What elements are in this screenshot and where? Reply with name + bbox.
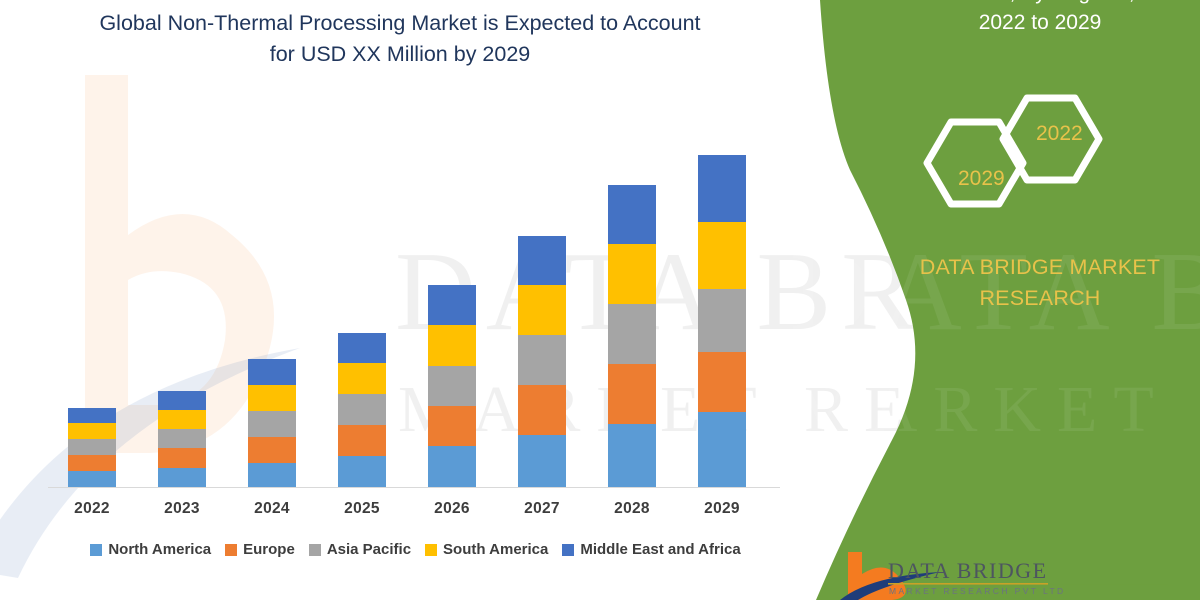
panel-title-line2: 2022 to 2029 [885,8,1195,38]
hexagon-label-2029: 2029 [958,167,1005,191]
bar-column-2028 [608,185,656,487]
panel-brand-line1: DATA BRIDGE MARKET [885,252,1195,283]
bar-segment [428,446,476,487]
bar-segment [68,455,116,471]
bar-segment [428,325,476,366]
bar-segment [698,289,746,352]
bar-segment [428,285,476,325]
bar-column-2029 [698,155,746,487]
bar-column-2022 [68,408,116,487]
legend-item[interactable]: Asia Pacific [309,541,411,558]
panel-brand-name: DATA BRIDGE MARKET RESEARCH [885,252,1195,314]
infographic-canvas: DATA BRIDGE MARKET RESEARCH Global Non-T… [0,0,1200,600]
bar-segment [608,304,656,364]
legend-swatch-icon [562,544,574,556]
bar-column-2026 [428,285,476,487]
bar-segment [518,435,566,487]
bar-segment [608,244,656,304]
legend-label: North America [108,541,211,558]
bar-segment [428,406,476,446]
panel-brand-line2: RESEARCH [885,283,1195,314]
bar-segment [518,236,566,285]
legend-item[interactable]: North America [90,541,211,558]
bar-segment [158,468,206,487]
x-tick-label-2027: 2027 [497,500,587,518]
bar-segment [698,352,746,412]
bar-segment [68,439,116,455]
x-tick-label-2025: 2025 [317,500,407,518]
x-tick-label-2023: 2023 [137,500,227,518]
x-tick-label-2024: 2024 [227,500,317,518]
chart-legend: North AmericaEuropeAsia PacificSouth Ame… [48,541,783,558]
bar-segment [68,408,116,423]
legend-item[interactable]: Middle East and Africa [562,541,740,558]
panel-title-line1: Market, By Regions, [885,0,1195,8]
bar-segment [248,385,296,411]
hexagon-label-2022: 2022 [1036,122,1083,146]
bar-segment [158,410,206,429]
bar-segment [608,424,656,487]
legend-swatch-icon [225,544,237,556]
bar-segment [608,364,656,424]
x-tick-label-2028: 2028 [587,500,677,518]
bar-segment [698,222,746,289]
legend-label: Middle East and Africa [580,541,740,558]
bar-segment [248,437,296,463]
bar-segment [338,456,386,487]
bar-segment [608,185,656,244]
bar-segment [518,385,566,435]
legend-label: Europe [243,541,295,558]
panel-title: Global Non-Thermal Processing Market is … [885,0,1195,38]
bar-column-2027 [518,236,566,487]
bar-segment [338,425,386,456]
bar-column-2023 [158,391,206,487]
bar-segment [158,429,206,448]
bar-segment [698,155,746,222]
legend-label: South America [443,541,548,558]
bar-segment [428,366,476,406]
x-tick-label-2029: 2029 [677,500,767,518]
bar-segment [68,471,116,487]
bar-segment [338,333,386,363]
bar-segment [248,411,296,437]
bar-segment [248,463,296,487]
bar-segment [248,359,296,385]
legend-label: Asia Pacific [327,541,411,558]
bar-segment [698,412,746,487]
bar-segment [518,335,566,385]
legend-item[interactable]: South America [425,541,548,558]
bar-segment [158,391,206,410]
x-tick-label-2026: 2026 [407,500,497,518]
x-axis-line [48,487,780,488]
chart-plot-area: 20222023202420252026202720282029 [0,0,800,600]
x-tick-label-2022: 2022 [47,500,137,518]
bar-segment [338,394,386,425]
bar-column-2025 [338,333,386,487]
footer-logo-tagline: MARKET RESEARCH PVT LTD [889,586,1066,596]
bar-segment [338,363,386,394]
legend-swatch-icon [425,544,437,556]
bar-segment [158,448,206,468]
footer-logo-text: DATA BRIDGE [888,558,1048,584]
bar-column-2024 [248,359,296,487]
bar-segment [518,285,566,335]
legend-swatch-icon [309,544,321,556]
hexagon-pair [915,92,1125,222]
legend-swatch-icon [90,544,102,556]
bar-segment [68,423,116,439]
legend-item[interactable]: Europe [225,541,295,558]
